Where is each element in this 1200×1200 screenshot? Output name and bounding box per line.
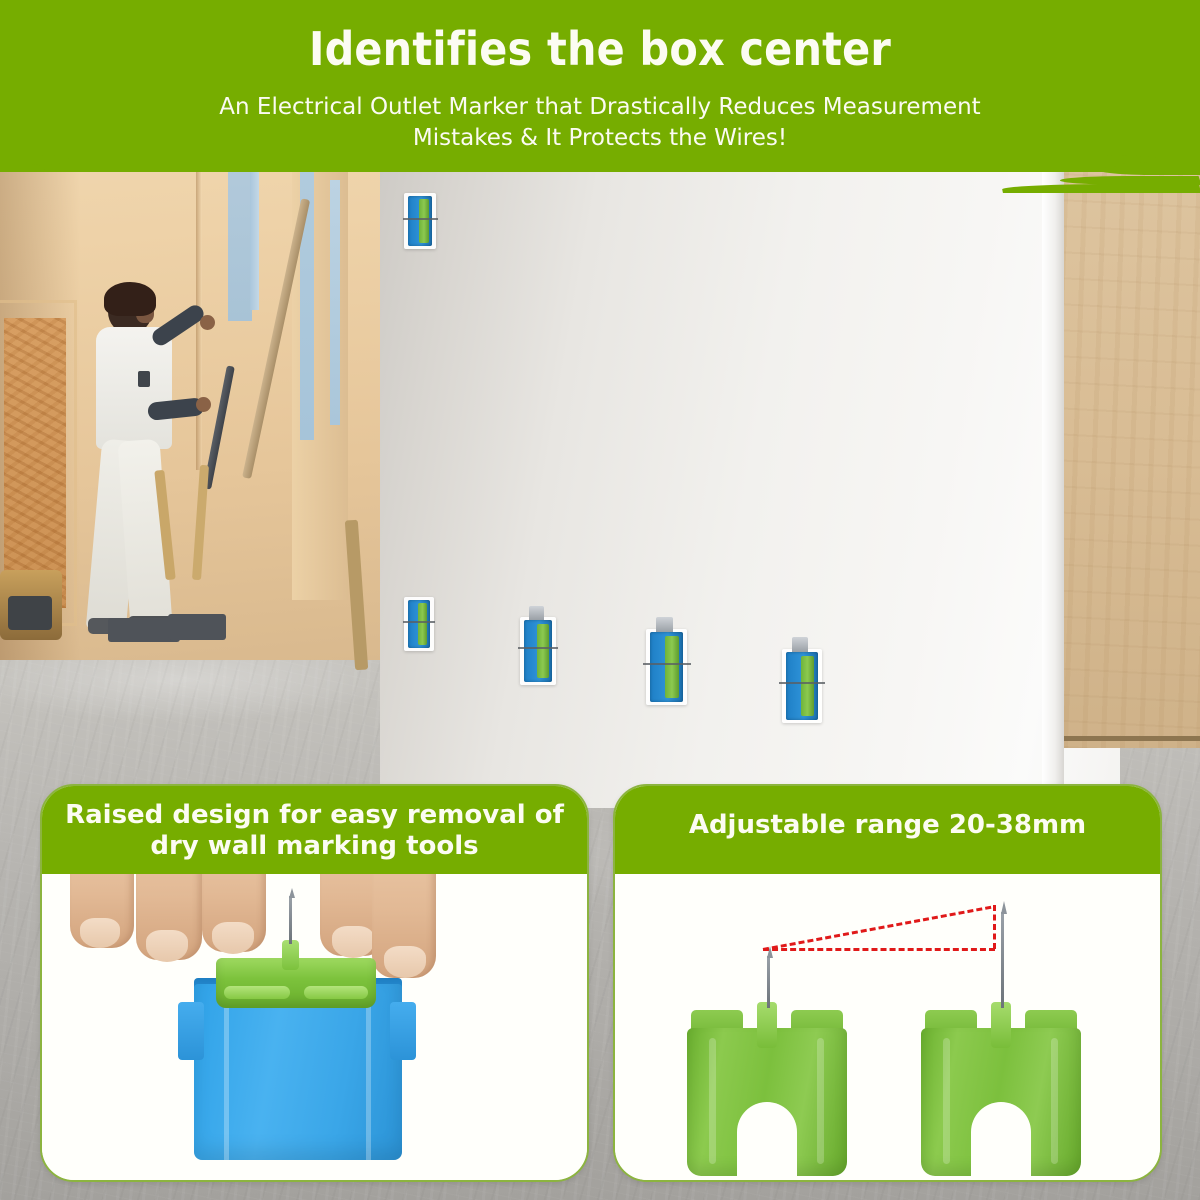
brush-stroke [0, 150, 1200, 156]
marker-needle-post [757, 1002, 777, 1048]
marker-rib [943, 1038, 950, 1164]
product-infographic: Identifies the box center An Electrical … [0, 0, 1200, 1200]
header-banner: Identifies the box center An Electrical … [0, 0, 1200, 172]
fingernail [384, 946, 426, 978]
green-center-marker [537, 624, 549, 679]
blue-electrical-box [194, 984, 402, 1160]
box-clip [792, 637, 809, 652]
electrical-box-marker [408, 196, 432, 246]
painter-hand-lower [196, 397, 211, 412]
marker-body [687, 1028, 847, 1176]
marking-needle-right [1001, 912, 1004, 1008]
measurement-line-horizontal [763, 948, 995, 951]
marker-body [921, 1028, 1081, 1176]
painter-upper-arm [149, 302, 207, 349]
brush-stroke [1001, 184, 1200, 193]
plywood-texture [1064, 168, 1200, 748]
box-mounting-tab [390, 1002, 416, 1060]
marker-left [687, 1000, 847, 1176]
fingernail [80, 918, 120, 948]
feature-panel-raised-design[interactable]: Raised design for easy removal of dry wa… [40, 784, 589, 1182]
page-title: Identifies the box center [0, 22, 1200, 76]
panel-title-line-1: Adjustable range 20-38mm [623, 810, 1152, 841]
panel-title-line-2: dry wall marking tools [50, 831, 579, 862]
box-clip [529, 606, 544, 620]
marking-needle [289, 896, 292, 944]
fingernail [212, 922, 254, 954]
tool-needle-post [282, 940, 299, 970]
needle-tip-icon [1001, 901, 1007, 914]
needle-tip-icon [767, 946, 773, 958]
marker-needle-post [991, 1002, 1011, 1048]
panel-image-raised-design [42, 874, 587, 1180]
plywood-floor-seam [1064, 736, 1200, 741]
white-drywall-wall [380, 168, 1120, 808]
mounting-screw-line [779, 682, 825, 684]
box-rib [224, 984, 229, 1160]
fingernail [332, 926, 374, 958]
plywood-panel [1064, 168, 1200, 748]
painter-hair [104, 282, 156, 316]
box-rib [366, 984, 371, 1160]
marking-needle-left [767, 956, 770, 1008]
electrical-box-marker [650, 632, 683, 702]
wall-right-edge [1042, 168, 1064, 808]
brush-stroke [1096, 165, 1200, 175]
green-center-marker [418, 603, 427, 645]
subtitle-line-1: An Electrical Outlet Marker that Drastic… [0, 92, 1200, 123]
compressor-body [8, 596, 52, 630]
marker-rib [1051, 1038, 1058, 1164]
shirt-logo [138, 371, 150, 387]
mounting-screw-line [518, 647, 559, 649]
box-clip [656, 617, 673, 632]
tool-ridge [304, 986, 368, 999]
marker-rib [817, 1038, 824, 1164]
brush-stroke [1037, 155, 1162, 164]
measurement-line-diagonal [763, 906, 992, 951]
panel-header-adjustable-range: Adjustable range 20-38mm [613, 784, 1162, 874]
fingernail [146, 930, 188, 962]
tool-case [168, 614, 226, 640]
green-center-marker [801, 656, 814, 716]
measurement-line-vertical [993, 905, 996, 949]
box-mounting-tab [178, 1002, 204, 1060]
electrical-box-marker [786, 652, 818, 720]
marker-right [921, 1000, 1081, 1176]
mounting-screw-line [403, 621, 435, 623]
electrical-box-marker [524, 620, 552, 682]
painter-hand-upper [200, 315, 215, 330]
panel-title-line-1: Raised design for easy removal of [50, 800, 579, 831]
feature-panel-adjustable-range[interactable]: Adjustable range 20-38mm [613, 784, 1162, 1182]
marker-rib [709, 1038, 716, 1164]
mounting-screw-line [643, 663, 691, 665]
blue-drywall-edge [330, 180, 340, 425]
mounting-screw-line [403, 218, 438, 220]
green-center-marker [419, 199, 429, 243]
panel-image-adjustable-range [615, 874, 1160, 1180]
marker-u-notch [971, 1102, 1031, 1180]
tool-ridge [224, 986, 290, 999]
brush-stroke-edge [0, 150, 1200, 190]
electrical-box-marker [408, 600, 430, 648]
marker-u-notch [737, 1102, 797, 1180]
page-subtitle: An Electrical Outlet Marker that Drastic… [0, 92, 1200, 154]
needle-tip-icon [289, 888, 295, 898]
panel-header-raised-design: Raised design for easy removal of dry wa… [40, 784, 589, 874]
brush-stroke [0, 164, 46, 172]
green-center-marker [665, 636, 679, 698]
